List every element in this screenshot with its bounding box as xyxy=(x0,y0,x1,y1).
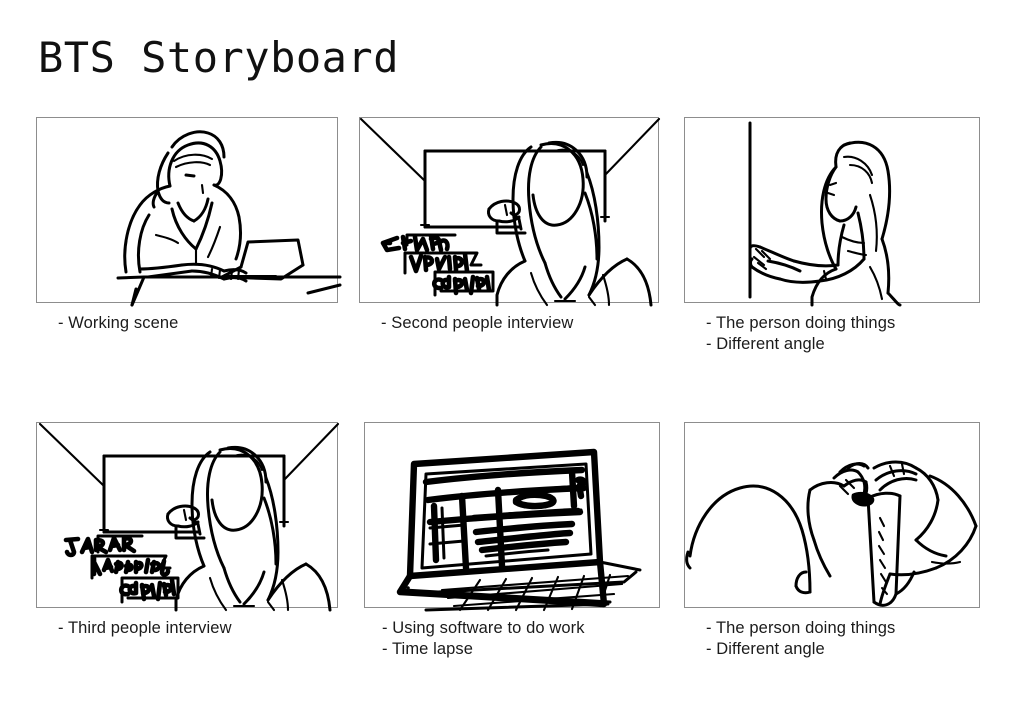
panel-caption-1: - Working scene xyxy=(58,313,178,334)
caption-line: - Using software to do work xyxy=(382,618,585,639)
panel-caption-5: - Using software to do work - Time lapse xyxy=(382,618,585,660)
panel-sketch-5 xyxy=(364,422,662,610)
panel-sketch-2 xyxy=(359,117,661,305)
storyboard-page: BTS Storyboard xyxy=(0,0,1024,724)
panel-frame-6[interactable] xyxy=(684,422,980,608)
panel-sketch-6 xyxy=(684,422,982,610)
panel-sketch-3 xyxy=(684,117,982,305)
caption-line: - Second people interview xyxy=(381,313,573,334)
caption-line: - Working scene xyxy=(58,313,178,334)
panel-caption-3: - The person doing things - Different an… xyxy=(706,313,895,355)
panel-caption-4: - Third people interview xyxy=(58,618,232,639)
panel-caption-2: - Second people interview xyxy=(381,313,573,334)
caption-line: - The person doing things xyxy=(706,618,895,639)
storyboard-grid: - Working scene xyxy=(0,0,1024,724)
panel-frame-2[interactable] xyxy=(359,117,659,303)
panel-sketch-1 xyxy=(36,117,340,305)
caption-line: - Third people interview xyxy=(58,618,232,639)
panel-sketch-4 xyxy=(36,422,340,610)
panel-frame-5[interactable] xyxy=(364,422,660,608)
panel-frame-1[interactable] xyxy=(36,117,338,303)
caption-line: - The person doing things xyxy=(706,313,895,334)
caption-line: - Different angle xyxy=(706,334,895,355)
caption-line: - Time lapse xyxy=(382,639,585,660)
caption-line: - Different angle xyxy=(706,639,895,660)
panel-frame-3[interactable] xyxy=(684,117,980,303)
panel-frame-4[interactable] xyxy=(36,422,338,608)
panel-caption-6: - The person doing things - Different an… xyxy=(706,618,895,660)
